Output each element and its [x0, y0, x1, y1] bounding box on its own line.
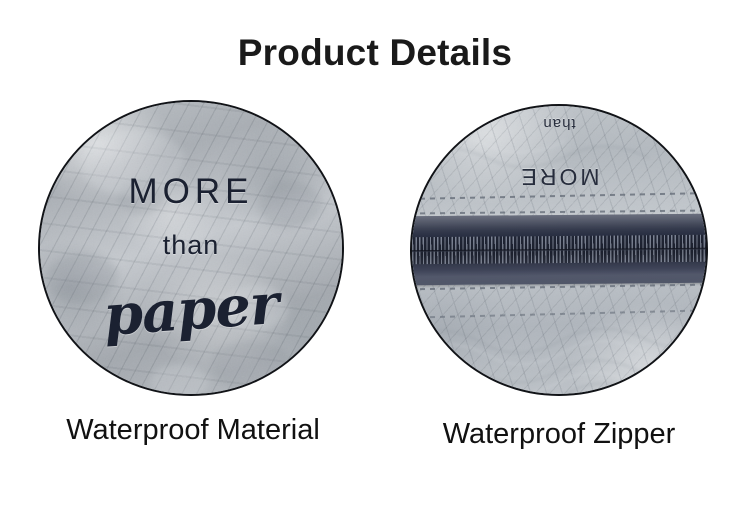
product-details-page: Product Details [0, 0, 750, 513]
page-title: Product Details [0, 31, 750, 75]
brandmark-line-more: MORE [40, 172, 342, 212]
zipper-sheen [410, 214, 708, 286]
brandmark-line-than-inverted: than [412, 115, 706, 132]
brandmark-line-than: than [40, 230, 342, 261]
caption-waterproof-zipper: Waterproof Zipper [404, 418, 714, 451]
detail-panel-waterproof-material: MORE than paper Waterproof Material [38, 100, 348, 460]
detail-panels: MORE than paper Waterproof Material [0, 100, 750, 460]
brandmark-line-paper: paper [38, 267, 344, 354]
waterproof-material-photo: MORE than paper [38, 100, 344, 396]
brandmark-line-more-inverted: MORE [412, 163, 706, 190]
waterproof-zipper-photo: MORE than paper [410, 104, 708, 396]
material-brandmark: MORE than paper [40, 102, 342, 394]
caption-waterproof-material: Waterproof Material [38, 414, 348, 447]
zipper-band [410, 214, 708, 286]
detail-panel-waterproof-zipper: MORE than paper Waterproof Zipper [404, 100, 714, 460]
